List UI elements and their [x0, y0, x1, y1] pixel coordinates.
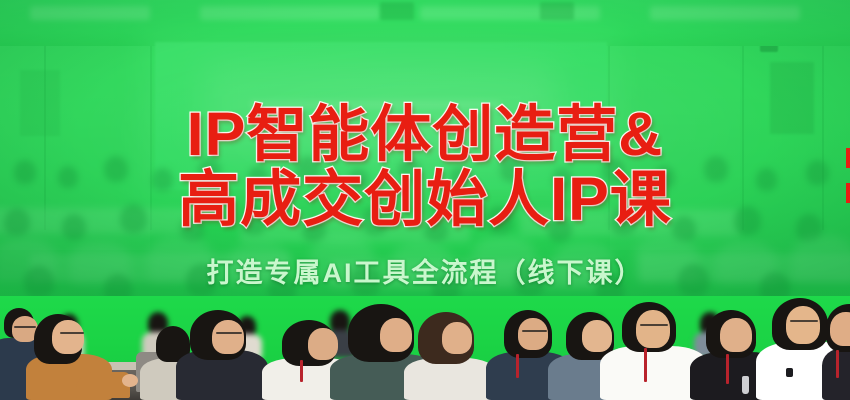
lanyard: [516, 354, 519, 378]
glasses-icon: [790, 320, 818, 322]
lanyard: [726, 354, 729, 384]
head: [582, 320, 612, 352]
edge-mark-right-top: [846, 148, 850, 168]
head: [442, 322, 472, 354]
hand: [122, 374, 138, 387]
lanyard: [836, 350, 839, 378]
glasses-icon: [640, 324, 668, 326]
glasses-icon: [216, 332, 242, 334]
glasses-icon: [14, 326, 36, 328]
edge-mark-right-bottom: [846, 183, 850, 203]
promo-banner: IP智能体创造营& 高成交创始人IP课 打造专属AI工具全流程（线下课）: [0, 0, 850, 400]
head: [636, 310, 670, 348]
head: [52, 320, 84, 354]
head: [720, 318, 752, 352]
wristwatch: [786, 368, 793, 377]
lanyard: [300, 360, 303, 382]
foreground-audience: [0, 296, 850, 400]
head: [380, 318, 412, 352]
arm: [76, 372, 130, 398]
head: [786, 306, 820, 344]
vignette-overlay: [0, 0, 850, 310]
hair: [330, 310, 350, 332]
head: [830, 312, 850, 346]
lanyard: [644, 348, 647, 382]
head: [308, 328, 338, 360]
head: [212, 320, 244, 354]
glasses-icon: [522, 330, 547, 332]
glasses-icon: [60, 332, 84, 334]
water-bottle: [742, 376, 749, 394]
head: [518, 318, 548, 350]
